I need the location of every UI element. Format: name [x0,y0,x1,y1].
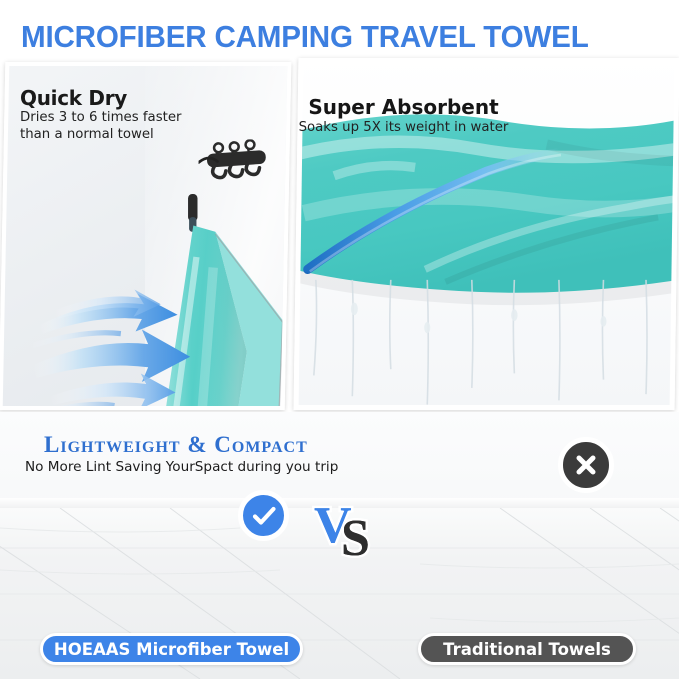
header-bar: MICROFIBER CAMPING TRAVEL TOWEL [0,0,679,66]
lightweight-heading: Lightweight & Compact [44,432,308,458]
wall-hook-rack-icon [199,139,273,187]
super-absorbent-heading: Super Absorbent [0,95,679,119]
close-icon [572,451,600,479]
versus-s: S [341,513,370,565]
water-drips-icon [294,280,679,410]
traditional-towel-label: Traditional Towels [418,633,636,665]
hoeaas-towel-label: HOEAAS Microfiber Towel [40,633,303,665]
versus-label: V V S S [314,500,384,570]
lightweight-subtext: No More Lint Saving YourSpact during you… [25,459,338,475]
carabiner-clip [188,194,197,232]
super-absorbent-subtext: Soaks up 5X its weight in water [0,120,679,135]
x-badge [558,437,614,493]
check-badge [238,490,289,541]
page-title: MICROFIBER CAMPING TRAVEL TOWEL [21,20,589,55]
product-infographic: MICROFIBER CAMPING TRAVEL TOWEL [0,0,679,679]
check-icon [250,502,278,530]
airflow-arrows-icon [31,283,241,410]
